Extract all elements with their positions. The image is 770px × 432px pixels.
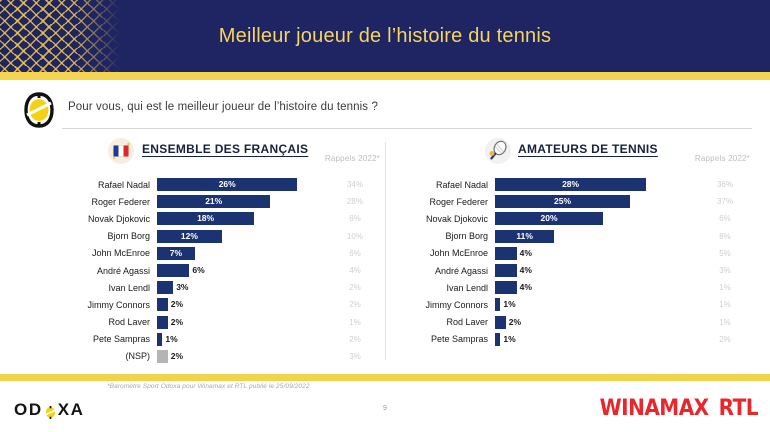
- bar-category-label: Jimmy Connors: [400, 300, 495, 310]
- bar-category-label: Roger Federer: [62, 197, 157, 207]
- bar-rows-left: Rafael Nadal26%34%Roger Federer21%28%Nov…: [62, 176, 382, 365]
- bar-value-label: 7%: [157, 247, 195, 260]
- bar-track: 1%: [495, 298, 698, 311]
- panel-divider: [385, 142, 386, 360]
- bar-row: Pete Sampras1%2%: [62, 331, 382, 348]
- bar-track: 12%: [157, 230, 328, 243]
- bar-value-label: 18%: [157, 212, 254, 225]
- tennis-racket-icon: [485, 138, 511, 164]
- bar-value-label: 1%: [165, 333, 177, 346]
- bar-track: 3%: [157, 281, 328, 294]
- bar: [157, 350, 168, 363]
- bar: [495, 298, 500, 311]
- bar-track: 6%: [157, 264, 328, 277]
- bar-value-label: 11%: [495, 230, 554, 243]
- bar-value-label: 2%: [171, 298, 183, 311]
- bar-category-label: Novak Djokovic: [62, 214, 157, 224]
- bar-track: 26%: [157, 178, 328, 191]
- recall-value: 34%: [328, 180, 382, 189]
- bar-row: John McEnroe7%6%: [62, 245, 382, 262]
- bar-value-label: 4%: [520, 281, 532, 294]
- recall-value: 1%: [698, 283, 752, 292]
- bar-category-label: Roger Federer: [400, 197, 495, 207]
- bar-track: 28%: [495, 178, 698, 191]
- bar-row: John McEnroe4%5%: [400, 245, 752, 262]
- bar-row: André Agassi6%4%: [62, 262, 382, 279]
- panel-amateurs-de-tennis: AMATEURS DE TENNIS Rappels 2022* Rafael …: [400, 138, 752, 373]
- accent-band-bottom: [0, 374, 770, 381]
- bar: [495, 281, 517, 294]
- bar-track: 4%: [495, 264, 698, 277]
- bar-category-label: Rafael Nadal: [62, 180, 157, 190]
- bar-track: 2%: [157, 298, 328, 311]
- bar-row: Ivan Lendl4%1%: [400, 279, 752, 296]
- bar-track: 4%: [495, 247, 698, 260]
- recall-value: 2%: [328, 335, 382, 344]
- bar-value-label: 1%: [503, 298, 515, 311]
- bar-value-label: 3%: [176, 281, 188, 294]
- recall-value: 1%: [698, 300, 752, 309]
- bar-track: 2%: [157, 316, 328, 329]
- recall-value: 6%: [698, 214, 752, 223]
- bar-row: Ivan Lendl3%2%: [62, 279, 382, 296]
- panel-title-left: ENSEMBLE DES FRANÇAIS: [142, 142, 308, 156]
- question-row: Pour vous, qui est le meilleur joueur de…: [22, 88, 752, 132]
- recall-value: 6%: [328, 249, 382, 258]
- recall-value: 1%: [698, 318, 752, 327]
- partner-logos: WINAMAX RTL: [600, 395, 758, 419]
- bar-category-label: André Agassi: [400, 266, 495, 276]
- bar-value-label: 28%: [495, 178, 646, 191]
- bar: [157, 298, 168, 311]
- recall-value: 10%: [328, 232, 382, 241]
- slide-header: Meilleur joueur de l’histoire du tennis: [0, 0, 770, 72]
- recall-value: 1%: [328, 318, 382, 327]
- bar-category-label: Bjorn Borg: [400, 231, 495, 241]
- bar-track: 1%: [157, 333, 328, 346]
- recall-value: 2%: [698, 335, 752, 344]
- recall-value: 28%: [328, 197, 382, 206]
- recall-value: 2%: [328, 283, 382, 292]
- bar-value-label: 20%: [495, 212, 603, 225]
- bar: [157, 316, 168, 329]
- bar-category-label: Ivan Lendl: [62, 283, 157, 293]
- bar-value-label: 12%: [157, 230, 222, 243]
- bar-row: Novak Djokovic20%6%: [400, 210, 752, 227]
- bar-track: 18%: [157, 212, 328, 225]
- bar-category-label: Pete Sampras: [62, 334, 157, 344]
- bar-track: 1%: [495, 333, 698, 346]
- panel-ensemble-des-francais: ENSEMBLE DES FRANÇAIS Rappels 2022* Rafa…: [62, 138, 382, 373]
- bar-rows-right: Rafael Nadal28%36%Roger Federer25%37%Nov…: [400, 176, 752, 348]
- bar-track: 7%: [157, 247, 328, 260]
- rtl-logo: RTL: [719, 394, 758, 421]
- bar: [495, 264, 517, 277]
- question-text: Pour vous, qui est le meilleur joueur de…: [68, 101, 378, 113]
- bar-row: Rod Laver2%1%: [400, 314, 752, 331]
- bar-value-label: 21%: [157, 195, 270, 208]
- panel-header-right: AMATEURS DE TENNIS Rappels 2022*: [400, 138, 752, 164]
- bar-value-label: 6%: [192, 264, 204, 277]
- bar-track: 21%: [157, 195, 328, 208]
- bar-row: Roger Federer25%37%: [400, 193, 752, 210]
- bar-value-label: 2%: [509, 316, 521, 329]
- page-title: Meilleur joueur de l’histoire du tennis: [0, 0, 770, 72]
- bar-row: Jimmy Connors2%2%: [62, 296, 382, 313]
- bar-value-label: 4%: [520, 264, 532, 277]
- bar-track: 4%: [495, 281, 698, 294]
- bar-row: Jimmy Connors1%1%: [400, 296, 752, 313]
- recall-header-left: Rappels 2022*: [325, 154, 380, 163]
- bar-track: 11%: [495, 230, 698, 243]
- winamax-logo: WINAMAX: [600, 394, 709, 421]
- bar-row: Pete Sampras1%2%: [400, 331, 752, 348]
- bar-track: 2%: [495, 316, 698, 329]
- question-divider: [62, 128, 752, 129]
- bar-row: André Agassi4%3%: [400, 262, 752, 279]
- recall-value: 5%: [698, 249, 752, 258]
- bar: [495, 333, 500, 346]
- recall-value: 3%: [698, 266, 752, 275]
- bar-category-label: Bjorn Borg: [62, 231, 157, 241]
- bar: [157, 281, 173, 294]
- bar-category-label: Rod Laver: [400, 317, 495, 327]
- panel-title-right: AMATEURS DE TENNIS: [518, 142, 658, 156]
- recall-value: 8%: [328, 214, 382, 223]
- recall-value: 3%: [328, 352, 382, 361]
- bar-row: Rod Laver2%1%: [62, 314, 382, 331]
- content-card: Pour vous, qui est le meilleur joueur de…: [0, 80, 770, 374]
- bar-row: Roger Federer21%28%: [62, 193, 382, 210]
- accent-band-top: [0, 72, 770, 80]
- bar-row: Bjorn Borg11%8%: [400, 228, 752, 245]
- bar-row: Rafael Nadal28%36%: [400, 176, 752, 193]
- bar-value-label: 2%: [171, 316, 183, 329]
- bar-category-label: Jimmy Connors: [62, 300, 157, 310]
- odoxa-badge-icon: [22, 92, 56, 128]
- bar-category-label: John McEnroe: [400, 248, 495, 258]
- bar-value-label: 26%: [157, 178, 297, 191]
- bar-value-label: 25%: [495, 195, 630, 208]
- bar-category-label: Pete Sampras: [400, 334, 495, 344]
- bar-category-label: Rod Laver: [62, 317, 157, 327]
- bar-category-label: Ivan Lendl: [400, 283, 495, 293]
- bar-value-label: 2%: [171, 350, 183, 363]
- recall-value: 8%: [698, 232, 752, 241]
- recall-value: 4%: [328, 266, 382, 275]
- panel-header-left: ENSEMBLE DES FRANÇAIS Rappels 2022*: [62, 138, 382, 164]
- bar-track: 20%: [495, 212, 698, 225]
- bar: [495, 247, 517, 260]
- french-flag-icon: [108, 138, 134, 164]
- bar-track: 25%: [495, 195, 698, 208]
- bar-category-label: Rafael Nadal: [400, 180, 495, 190]
- bar-value-label: 1%: [503, 333, 515, 346]
- bar: [495, 316, 506, 329]
- footnote-text: *Baromètre Sport Odoxa pour Winamax et R…: [107, 383, 310, 390]
- bar-value-label: 4%: [520, 247, 532, 260]
- slide-footer: *Baromètre Sport Odoxa pour Winamax et R…: [0, 381, 770, 432]
- bar-track: 2%: [157, 350, 328, 363]
- bar-category-label: André Agassi: [62, 266, 157, 276]
- bar-row: Bjorn Borg12%10%: [62, 228, 382, 245]
- bar-row: (NSP)2%3%: [62, 348, 382, 365]
- bar: [157, 264, 189, 277]
- bar-category-label: (NSP): [62, 351, 157, 361]
- recall-value: 37%: [698, 197, 752, 206]
- recall-value: 36%: [698, 180, 752, 189]
- bar-row: Rafael Nadal26%34%: [62, 176, 382, 193]
- recall-value: 2%: [328, 300, 382, 309]
- bar-category-label: John McEnroe: [62, 248, 157, 258]
- bar-category-label: Novak Djokovic: [400, 214, 495, 224]
- bar-row: Novak Djokovic18%8%: [62, 210, 382, 227]
- recall-header-right: Rappels 2022*: [695, 154, 750, 163]
- bar: [157, 333, 162, 346]
